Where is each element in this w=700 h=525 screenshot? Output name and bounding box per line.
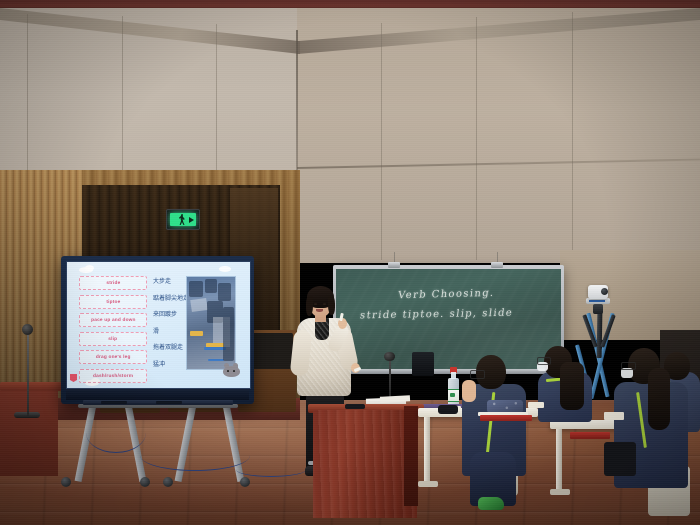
exit-sign-glow — [170, 213, 196, 226]
student-hair — [560, 362, 584, 410]
student-neck — [462, 380, 476, 402]
blackboard-mount-clip — [388, 262, 400, 268]
screen-stylus[interactable] — [101, 401, 127, 404]
student-shoe — [478, 497, 504, 510]
microphone-icon — [22, 324, 33, 335]
blackboard-mount-clip — [491, 262, 503, 268]
wall-panel-seam — [476, 17, 477, 260]
desk-leg — [556, 429, 562, 491]
desk-foot — [550, 489, 570, 495]
vocab-english: pace up and down — [91, 317, 135, 323]
tripod-center-column — [597, 312, 603, 358]
wall-panel-seam — [572, 12, 573, 260]
exit-sign — [166, 209, 200, 230]
running-man-icon — [179, 214, 185, 225]
teacher-eye — [314, 303, 317, 305]
tripod-head — [593, 304, 603, 314]
teacher-hair-side — [328, 296, 335, 315]
screen-display[interactable]: stride tiptoe pace up and down slip drag… — [66, 261, 251, 389]
slide-classroom-photo — [186, 276, 236, 370]
side-lectern-top — [0, 382, 62, 391]
vocab-word-box: slip — [79, 332, 147, 346]
podium-microphone-icon — [384, 352, 395, 361]
cloud-decoration — [85, 265, 94, 271]
vocab-word-box: stride — [79, 276, 147, 290]
wall-right-lower — [560, 250, 700, 340]
microphone-stand — [27, 330, 29, 416]
wall-panel-seam — [381, 23, 382, 260]
desk-object — [438, 405, 458, 414]
stand-caster — [140, 477, 150, 487]
arrow-right-icon — [189, 217, 194, 223]
vocab-word-box: tiptoe — [79, 295, 147, 309]
blackboard-surface: Verb Choosing. stride tiptoe. slip, slid… — [336, 269, 561, 369]
teacher-mouth — [316, 309, 323, 312]
slide-badge-icon — [70, 374, 77, 382]
screen-stylus[interactable] — [156, 401, 182, 404]
desk-paper — [528, 402, 544, 408]
desk-foot — [418, 481, 438, 487]
power-cable — [140, 440, 250, 471]
vocab-english: dash/rush/storm — [93, 373, 133, 379]
student-glasses — [470, 370, 485, 379]
vocab-word-box: dash/rush/storm — [79, 369, 147, 383]
student-ponytail — [648, 368, 670, 430]
cat-mascot-icon — [223, 366, 240, 377]
desk-paper — [604, 412, 624, 420]
bottle-label — [448, 389, 459, 402]
vocab-english: drag one's leg — [96, 355, 131, 361]
podium-woodgrain — [313, 410, 417, 518]
teacher-hair-side — [306, 296, 313, 316]
classroom-photo: stride tiptoe pace up and down slip drag… — [0, 0, 700, 525]
podium-touchpad[interactable] — [345, 404, 365, 409]
desk-book — [570, 432, 610, 439]
desk-book — [480, 415, 532, 421]
presentation-slide: stride tiptoe pace up and down slip drag… — [67, 262, 250, 388]
podium-side-panel — [404, 406, 418, 506]
side-lectern — [0, 386, 58, 476]
screen-bottom-bezel: SMART — [66, 389, 249, 400]
vocab-word-box: drag one's leg — [79, 350, 147, 364]
stand-caster — [240, 477, 250, 487]
blackboard: Verb Choosing. stride tiptoe. slip, slid… — [333, 265, 564, 373]
vocab-english: tiptoe — [106, 299, 120, 305]
student-glasses — [621, 362, 636, 370]
vocab-english: slip — [109, 336, 118, 342]
power-cable — [236, 462, 306, 477]
power-cable — [86, 412, 146, 453]
podium-monitor — [412, 352, 434, 376]
smart-board[interactable]: stride tiptoe pace up and down slip drag… — [61, 256, 254, 404]
stand-caster — [163, 477, 173, 487]
vocab-english: stride — [106, 280, 120, 286]
desk-leg — [424, 417, 430, 483]
student-bag — [604, 442, 636, 476]
student-glasses — [537, 357, 551, 365]
camera-lens-icon — [601, 288, 608, 295]
cloud-decoration — [219, 266, 231, 272]
stand-caster — [61, 477, 71, 487]
camera-accent-strip — [589, 300, 605, 302]
blackboard-chalk-tray — [333, 369, 564, 374]
vocabulary-english-column: stride tiptoe pace up and down slip drag… — [79, 276, 147, 388]
vocab-word-box: pace up and down — [79, 313, 147, 327]
teacher-eye — [323, 303, 326, 305]
